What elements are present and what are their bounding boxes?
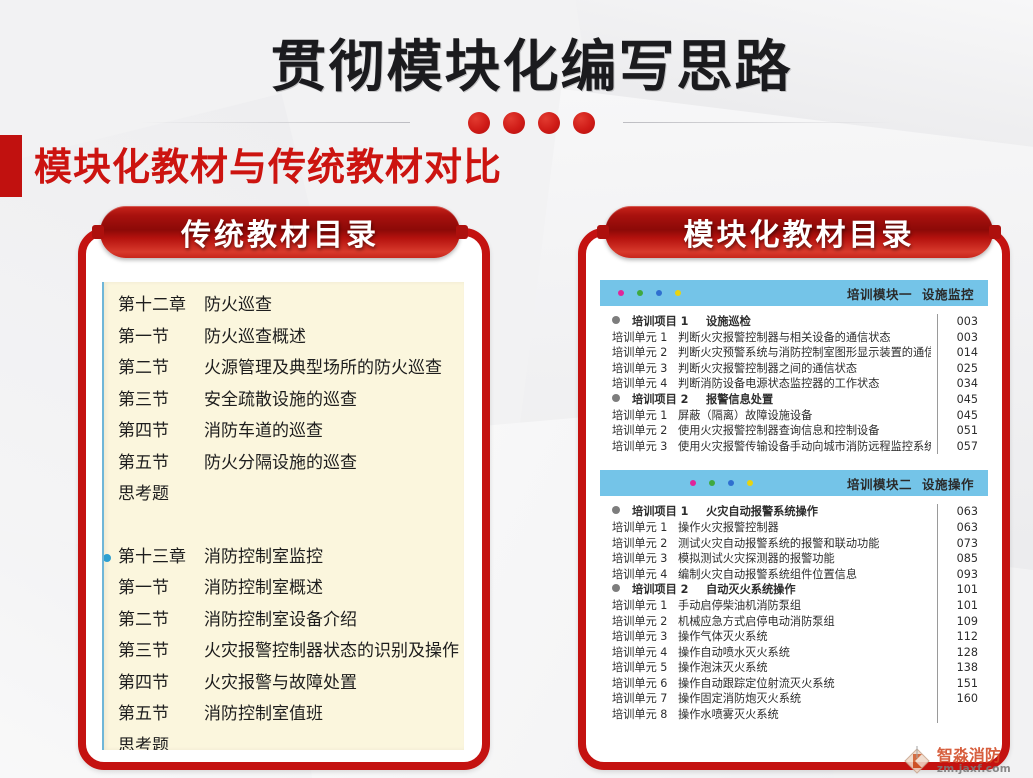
module-unit-row: 培训单元 6操作自动跟踪定位射流灭火系统151 [612, 676, 978, 692]
toc-entry-label: 第一节 [118, 573, 204, 605]
entry-title: 操作固定消防炮灭火系统 [678, 691, 931, 707]
banner-nub-left-icon [597, 225, 609, 239]
module-unit-row: 培训单元 2判断火灾预警系统与消防控制室图形显示装置的通信状态014 [612, 345, 978, 361]
entry-unit-label: 培训单元 1 [612, 330, 678, 346]
toc-entry-text: 防火分隔设施的巡查 [204, 453, 357, 473]
entry-unit-label: 培训单元 7 [612, 691, 678, 707]
modular-toc-inner: 培训模块一设施监控培训项目 1设施巡检003培训单元 1判断火灾报警控制器与相关… [590, 240, 998, 758]
toc-entry: 思考题 [118, 479, 458, 511]
module-project-row: 培训项目 1设施巡检003 [612, 314, 978, 330]
toc-entry: 第二节消防控制室设备介绍 [118, 605, 458, 637]
module-dot-icon [747, 480, 753, 486]
module-unit-row: 培训单元 8操作水喷雾灭火系统 [612, 707, 978, 723]
entry-unit-label: 培训单元 1 [612, 408, 678, 424]
entry-unit-label: 培训单元 2 [612, 614, 678, 630]
toc-entry: 第一节消防控制室概述 [118, 573, 458, 605]
toc-entry-label: 思考题 [118, 731, 204, 751]
toc-entry-text: 消防车道的巡查 [204, 421, 323, 441]
module-entry-list: 培训项目 1火灾自动报警系统操作063培训单元 1操作火灾报警控制器063培训单… [600, 496, 988, 722]
watermark-logo-icon [902, 746, 932, 776]
entry-page-number: 085 [938, 551, 978, 567]
entry-separator [937, 707, 938, 723]
banner-nub-left-icon [92, 225, 104, 239]
toc-entry: 第四节消防车道的巡查 [118, 416, 458, 448]
title-dot-icon [503, 112, 525, 134]
toc-entry-text: 安全疏散设施的巡查 [204, 390, 357, 410]
traditional-toc-banner: 传统教材目录 [100, 206, 460, 258]
entry-page-number: 073 [938, 536, 978, 552]
entry-page-number: 063 [938, 504, 978, 520]
entry-page-number: 101 [938, 598, 978, 614]
toc-entry-label: 第一节 [118, 322, 204, 354]
module-header-label: 培训模块一设施监控 [847, 284, 974, 303]
entry-unit-label: 培训项目 2 [632, 582, 706, 598]
traditional-toc-inner: 第十二章防火巡查第一节防火巡查概述第二节火源管理及典型场所的防火巡查第三节安全疏… [90, 240, 478, 758]
module-unit-row: 培训单元 3判断火灾报警控制器之间的通信状态025 [612, 361, 978, 377]
entry-unit-label: 培训单元 3 [612, 439, 678, 455]
module-unit-row: 培训单元 1操作火灾报警控制器063 [612, 520, 978, 536]
entry-page-number: 101 [938, 582, 978, 598]
entry-title: 使用火灾报警控制器查询信息和控制设备 [678, 423, 931, 439]
module-dot-icon [690, 480, 696, 486]
toc-entry-text: 消防控制室监控 [204, 547, 323, 567]
module-dot-icon [728, 480, 734, 486]
entry-unit-label: 培训单元 5 [612, 660, 678, 676]
entry-title: 使用火灾报警传输设备手动向城市消防远程监控系统报警 [678, 439, 931, 455]
entry-page-number: 003 [938, 314, 978, 330]
watermark-url: zm.jaxf.com [937, 764, 1011, 775]
entry-title: 操作泡沫灭火系统 [678, 660, 931, 676]
module-unit-row: 培训单元 4操作自动喷水灭火系统128 [612, 645, 978, 661]
toc-entry-label: 第五节 [118, 699, 204, 731]
module-unit-row: 培训单元 5操作泡沫灭火系统138 [612, 660, 978, 676]
toc-entry: 思考题 [118, 731, 458, 751]
banner-nub-right-icon [989, 225, 1001, 239]
toc-entry-label: 第五节 [118, 448, 204, 480]
watermark: 智淼消防 zm.jaxf.com [902, 746, 1011, 776]
toc-entry-text: 消防控制室值班 [204, 704, 323, 724]
toc-entry-label: 第三节 [118, 385, 204, 417]
entry-unit-label: 培训单元 3 [612, 551, 678, 567]
entry-page-number: 025 [938, 361, 978, 377]
toc-entry-text: 防火巡查概述 [204, 327, 306, 347]
toc-entry-text: 消防控制室设备介绍 [204, 610, 357, 630]
title-dot-icon [538, 112, 560, 134]
module-name-label: 设施操作 [922, 477, 974, 492]
entry-page-number: 093 [938, 567, 978, 583]
module-number-label: 培训模块一 [847, 287, 912, 302]
toc-entry-text: 火灾报警与故障处置 [204, 673, 357, 693]
module-unit-row: 培训单元 2机械应急方式启停电动消防泵组109 [612, 614, 978, 630]
project-bullet-icon [612, 506, 620, 514]
entry-page-number: 057 [938, 439, 978, 455]
entry-unit-label: 培训项目 1 [632, 314, 706, 330]
traditional-toc-page: 第十二章防火巡查第一节防火巡查概述第二节火源管理及典型场所的防火巡查第三节安全疏… [102, 282, 464, 750]
toc-entry-label: 第三节 [118, 636, 204, 668]
module-header-bar: 培训模块一设施监控 [600, 280, 988, 306]
module-dot-row [690, 480, 753, 486]
entry-unit-label: 培训单元 2 [612, 536, 678, 552]
module-unit-row: 培训单元 3模拟测试火灾探测器的报警功能085 [612, 551, 978, 567]
entry-title: 操作自动跟踪定位射流灭火系统 [678, 676, 931, 692]
toc-entry: 第二节火源管理及典型场所的防火巡查 [118, 353, 458, 385]
entry-page-number: 151 [938, 676, 978, 692]
module-header-label: 培训模块二设施操作 [847, 474, 974, 493]
modular-toc-page: 培训模块一设施监控培训项目 1设施巡检003培训单元 1判断火灾报警控制器与相关… [600, 280, 988, 752]
entry-title: 操作水喷雾灭火系统 [678, 707, 931, 723]
traditional-toc-banner-title: 传统教材目录 [181, 210, 379, 254]
entry-page-number: 138 [938, 660, 978, 676]
entry-page-number: 160 [938, 691, 978, 707]
toc-entry: 第三节火灾报警控制器状态的识别及操作 [118, 636, 458, 668]
entry-page-number: 003 [938, 330, 978, 346]
entry-title: 判断消防设备电源状态监控器的工作状态 [678, 376, 931, 392]
toc-entry: 第四节火灾报警与故障处置 [118, 668, 458, 700]
module-dot-icon [637, 290, 643, 296]
toc-entry-label: 第二节 [118, 605, 204, 637]
module-unit-row: 培训单元 1判断火灾报警控制器与相关设备的通信状态003 [612, 330, 978, 346]
module-unit-row: 培训单元 3使用火灾报警传输设备手动向城市消防远程监控系统报警057 [612, 439, 978, 455]
toc-entry: 第五节消防控制室值班 [118, 699, 458, 731]
module-unit-row: 培训单元 3操作气体灭火系统112 [612, 629, 978, 645]
watermark-name: 智淼消防 [937, 748, 1011, 764]
title-dot-icon [573, 112, 595, 134]
module-entry-list: 培训项目 1设施巡检003培训单元 1判断火灾报警控制器与相关设备的通信状态00… [600, 306, 988, 454]
module-unit-row: 培训单元 2使用火灾报警控制器查询信息和控制设备051 [612, 423, 978, 439]
title-dot-row [0, 112, 1033, 134]
project-bullet-icon [612, 584, 620, 592]
entry-unit-label: 培训单元 4 [612, 376, 678, 392]
entry-unit-label: 培训单元 2 [612, 345, 678, 361]
entry-unit-label: 培训单元 6 [612, 676, 678, 692]
module-unit-row: 培训单元 7操作固定消防炮灭火系统160 [612, 691, 978, 707]
entry-title: 操作气体灭火系统 [678, 629, 931, 645]
entry-unit-label: 培训单元 4 [612, 645, 678, 661]
module-name-label: 设施监控 [922, 287, 974, 302]
subtitle-accent-bar [0, 135, 22, 197]
toc-entry-text: 火源管理及典型场所的防火巡查 [204, 358, 442, 378]
module-unit-row: 培训单元 4编制火灾自动报警系统组件位置信息093 [612, 567, 978, 583]
entry-unit-label: 培训单元 1 [612, 598, 678, 614]
entry-page-number: 109 [938, 614, 978, 630]
entry-unit-label: 培训项目 1 [632, 504, 706, 520]
toc-entry-label: 第十三章 [118, 542, 204, 574]
toc-entry: 第三节安全疏散设施的巡查 [118, 385, 458, 417]
slide-header: 贯彻模块化编写思路 模块化教材与传统教材对比 [0, 0, 1033, 200]
toc-spacer [118, 511, 458, 542]
entry-title: 手动启停柴油机消防泵组 [678, 598, 931, 614]
entry-page-number: 045 [938, 408, 978, 424]
entry-title: 报警信息处置 [706, 392, 931, 408]
entry-page-number: 045 [938, 392, 978, 408]
module-dot-row [618, 290, 681, 296]
title-dot-icon [468, 112, 490, 134]
entry-unit-label: 培训单元 2 [612, 423, 678, 439]
module-header-bar: 培训模块二设施操作 [600, 470, 988, 496]
entry-unit-label: 培训单元 3 [612, 629, 678, 645]
entry-title: 操作火灾报警控制器 [678, 520, 931, 536]
modular-toc-panel: 培训模块一设施监控培训项目 1设施巡检003培训单元 1判断火灾报警控制器与相关… [578, 228, 1010, 770]
entry-title: 屏蔽（隔离）故障设施设备 [678, 408, 931, 424]
entry-title: 机械应急方式启停电动消防泵组 [678, 614, 931, 630]
entry-page-number: 063 [938, 520, 978, 536]
module-gap [600, 454, 988, 470]
toc-entry-text: 防火巡查 [204, 295, 272, 315]
entry-unit-label: 培训单元 8 [612, 707, 678, 723]
entry-title: 判断火灾预警系统与消防控制室图形显示装置的通信状态 [678, 345, 931, 361]
entry-page-number: 034 [938, 376, 978, 392]
module-unit-row: 培训单元 2测试火灾自动报警系统的报警和联动功能073 [612, 536, 978, 552]
module-dot-icon [675, 290, 681, 296]
module-unit-row: 培训单元 4判断消防设备电源状态监控器的工作状态034 [612, 376, 978, 392]
project-bullet-icon [612, 394, 620, 402]
toc-entry-text: 消防控制室概述 [204, 578, 323, 598]
toc-entry-label: 第二节 [118, 353, 204, 385]
toc-entry-label: 第四节 [118, 416, 204, 448]
watermark-text: 智淼消防 zm.jaxf.com [937, 748, 1011, 775]
page-title: 贯彻模块化编写思路 [0, 22, 1033, 103]
module-dot-icon [618, 290, 624, 296]
entry-title: 判断火灾报警控制器与相关设备的通信状态 [678, 330, 931, 346]
module-project-row: 培训项目 2报警信息处置045 [612, 392, 978, 408]
banner-nub-right-icon [456, 225, 468, 239]
entry-page-number: 051 [938, 423, 978, 439]
traditional-toc-panel: 第十二章防火巡查第一节防火巡查概述第二节火源管理及典型场所的防火巡查第三节安全疏… [78, 228, 490, 770]
entry-page-number: 112 [938, 629, 978, 645]
toc-entry: 第十二章防火巡查 [118, 290, 458, 322]
entry-title: 模拟测试火灾探测器的报警功能 [678, 551, 931, 567]
module-unit-row: 培训单元 1屏蔽（隔离）故障设施设备045 [612, 408, 978, 424]
entry-unit-label: 培训项目 2 [632, 392, 706, 408]
entry-title: 操作自动喷水灭火系统 [678, 645, 931, 661]
subtitle: 模块化教材与传统教材对比 [34, 136, 502, 191]
module-number-label: 培训模块二 [847, 477, 912, 492]
entry-title: 编制火灾自动报警系统组件位置信息 [678, 567, 931, 583]
modular-toc-banner: 模块化教材目录 [605, 206, 993, 258]
project-bullet-icon [612, 316, 620, 324]
entry-page-number: 128 [938, 645, 978, 661]
entry-title: 测试火灾自动报警系统的报警和联动功能 [678, 536, 931, 552]
entry-unit-label: 培训单元 1 [612, 520, 678, 536]
toc-entry: 第一节防火巡查概述 [118, 322, 458, 354]
entry-title: 自动灭火系统操作 [706, 582, 931, 598]
toc-entry-label: 第十二章 [118, 290, 204, 322]
module-project-row: 培训项目 2自动灭火系统操作101 [612, 582, 978, 598]
toc-entry-label: 思考题 [118, 479, 204, 511]
entry-unit-label: 培训单元 4 [612, 567, 678, 583]
module-project-row: 培训项目 1火灾自动报警系统操作063 [612, 504, 978, 520]
entry-unit-label: 培训单元 3 [612, 361, 678, 377]
entry-title: 判断火灾报警控制器之间的通信状态 [678, 361, 931, 377]
module-dot-icon [709, 480, 715, 486]
entry-page-number: 014 [938, 345, 978, 361]
toc-entry-text: 火灾报警控制器状态的识别及操作 [204, 641, 459, 661]
module-unit-row: 培训单元 1手动启停柴油机消防泵组101 [612, 598, 978, 614]
toc-entry: 第十三章消防控制室监控 [118, 542, 458, 574]
module-dot-icon [656, 290, 662, 296]
toc-entry: 第五节防火分隔设施的巡查 [118, 448, 458, 480]
modular-toc-banner-title: 模块化教材目录 [684, 210, 915, 254]
entry-title: 火灾自动报警系统操作 [706, 504, 931, 520]
toc-entry-label: 第四节 [118, 668, 204, 700]
entry-title: 设施巡检 [706, 314, 931, 330]
